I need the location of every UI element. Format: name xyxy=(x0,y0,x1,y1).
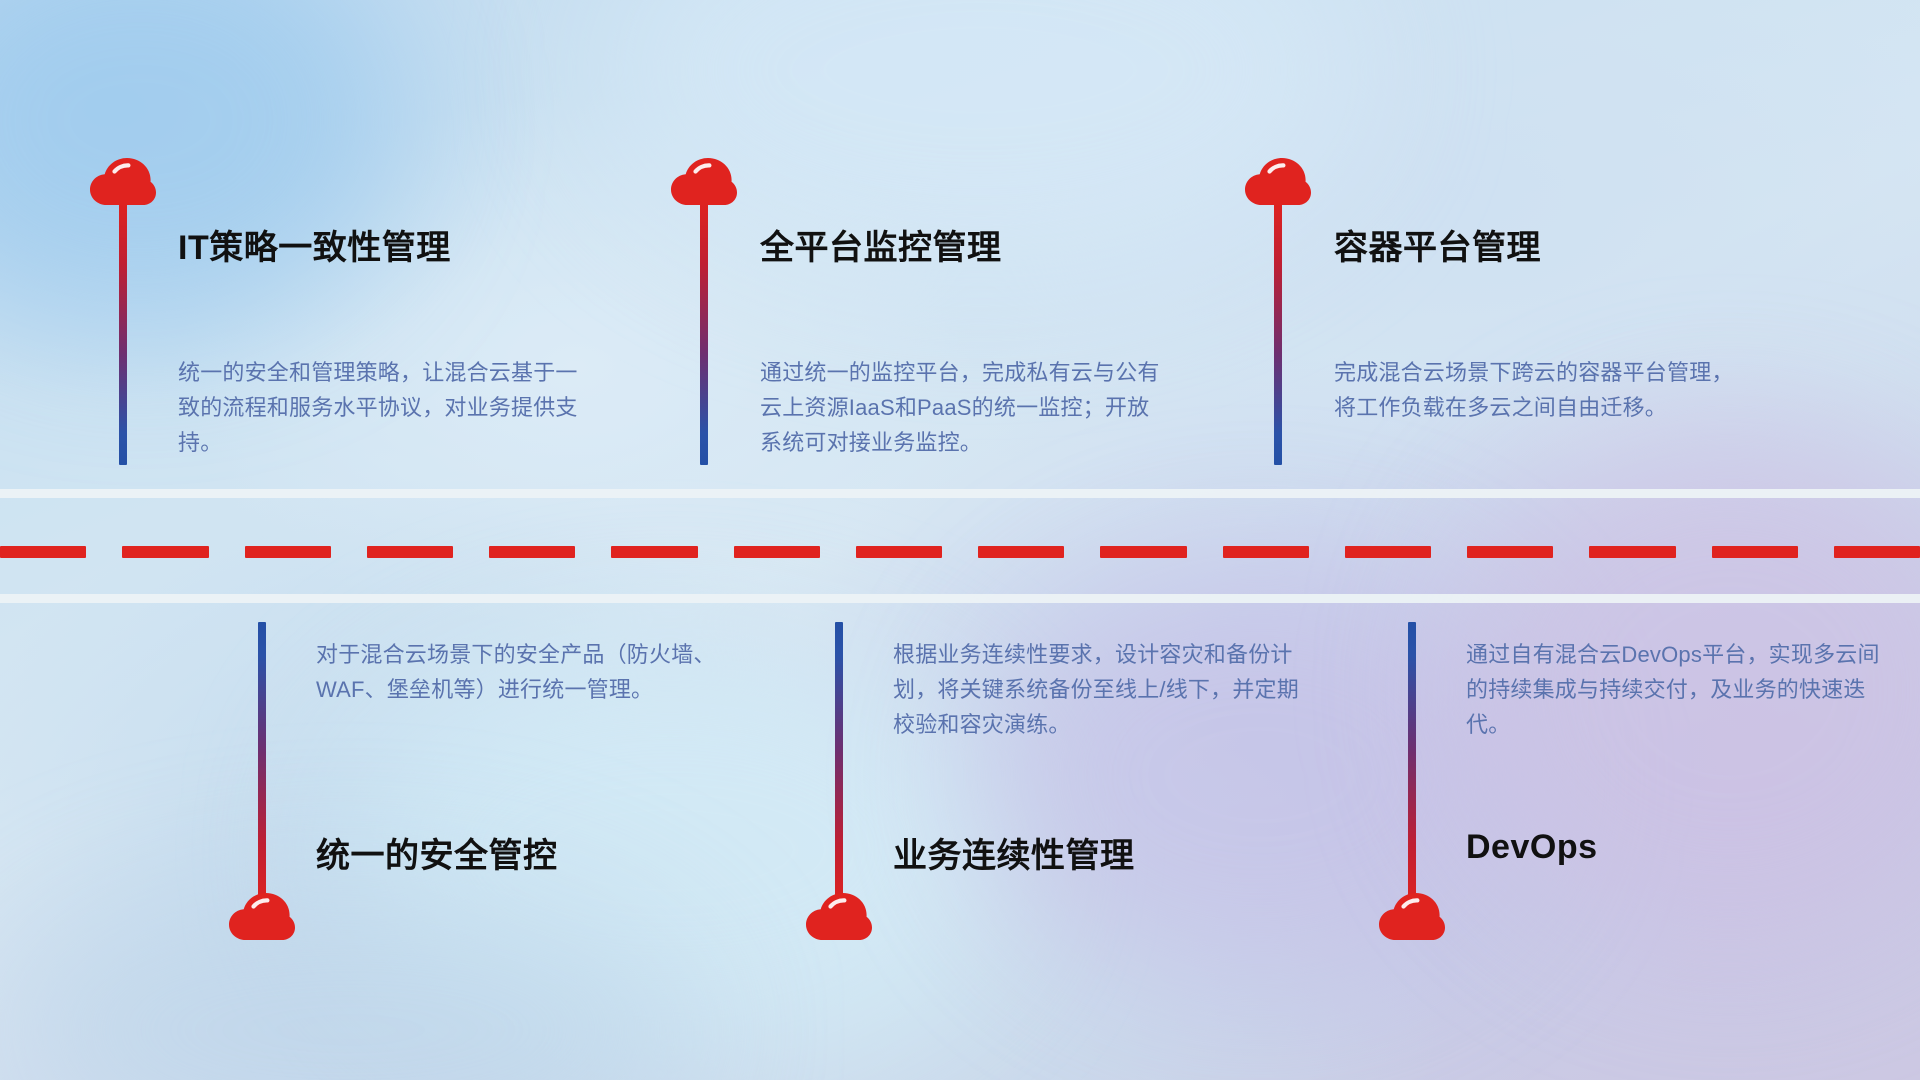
column-title: DevOps xyxy=(1466,828,1598,867)
cloud-icon xyxy=(806,893,872,941)
divider-dash xyxy=(1712,546,1798,558)
divider-dash xyxy=(1467,546,1553,558)
divider-dash xyxy=(1345,546,1431,558)
column-description: 通过统一的监控平台，完成私有云与公有云上资源IaaS和PaaS的统一监控；开放系… xyxy=(760,355,1170,460)
column-stem xyxy=(700,200,708,465)
divider-line-bottom xyxy=(0,594,1920,603)
divider-dash xyxy=(245,546,331,558)
column-title: 容器平台管理 xyxy=(1334,220,1541,269)
divider-dash xyxy=(1834,546,1920,558)
column-title: 统一的安全管控 xyxy=(316,828,558,877)
column-stem xyxy=(1408,622,1416,907)
cloud-icon xyxy=(90,158,156,206)
divider-dash xyxy=(611,546,697,558)
divider-dash xyxy=(856,546,942,558)
dashed-road-divider xyxy=(0,546,1920,558)
divider-dash xyxy=(0,546,86,558)
cloud-icon xyxy=(1245,158,1311,206)
column-description: 完成混合云场景下跨云的容器平台管理，将工作负载在多云之间自由迁移。 xyxy=(1334,355,1749,425)
divider-line-top xyxy=(0,489,1920,498)
divider-dash xyxy=(489,546,575,558)
column-description: 统一的安全和管理策略，让混合云基于一致的流程和服务水平协议，对业务提供支持。 xyxy=(178,355,593,460)
column-description: 对于混合云场景下的安全产品（防火墙、WAF、堡垒机等）进行统一管理。 xyxy=(316,637,731,707)
divider-dash xyxy=(1589,546,1675,558)
column-stem xyxy=(258,622,266,907)
divider-dash xyxy=(734,546,820,558)
divider-dash xyxy=(367,546,453,558)
column-description: 根据业务连续性要求，设计容灾和备份计划，将关键系统备份至线上/线下，并定期校验和… xyxy=(893,637,1308,742)
cloud-icon xyxy=(671,158,737,206)
background-blob xyxy=(980,560,1540,990)
cloud-icon xyxy=(229,893,295,941)
divider-dash xyxy=(1100,546,1186,558)
infographic-canvas: IT策略一致性管理 统一的安全和管理策略，让混合云基于一致的流程和服务水平协议，… xyxy=(0,0,1920,1080)
divider-dash xyxy=(122,546,208,558)
column-stem xyxy=(1274,200,1282,465)
divider-dash xyxy=(1223,546,1309,558)
column-title: 全平台监控管理 xyxy=(760,220,1002,269)
column-stem xyxy=(835,622,843,907)
column-description: 通过自有混合云DevOps平台，实现多云间的持续集成与持续交付，及业务的快速迭代… xyxy=(1466,637,1881,742)
background-blob xyxy=(0,880,700,1080)
column-title: 业务连续性管理 xyxy=(893,828,1135,877)
column-title: IT策略一致性管理 xyxy=(178,220,451,269)
divider-dash xyxy=(978,546,1064,558)
cloud-icon xyxy=(1379,893,1445,941)
column-stem xyxy=(119,200,127,465)
background-blob xyxy=(0,0,400,330)
